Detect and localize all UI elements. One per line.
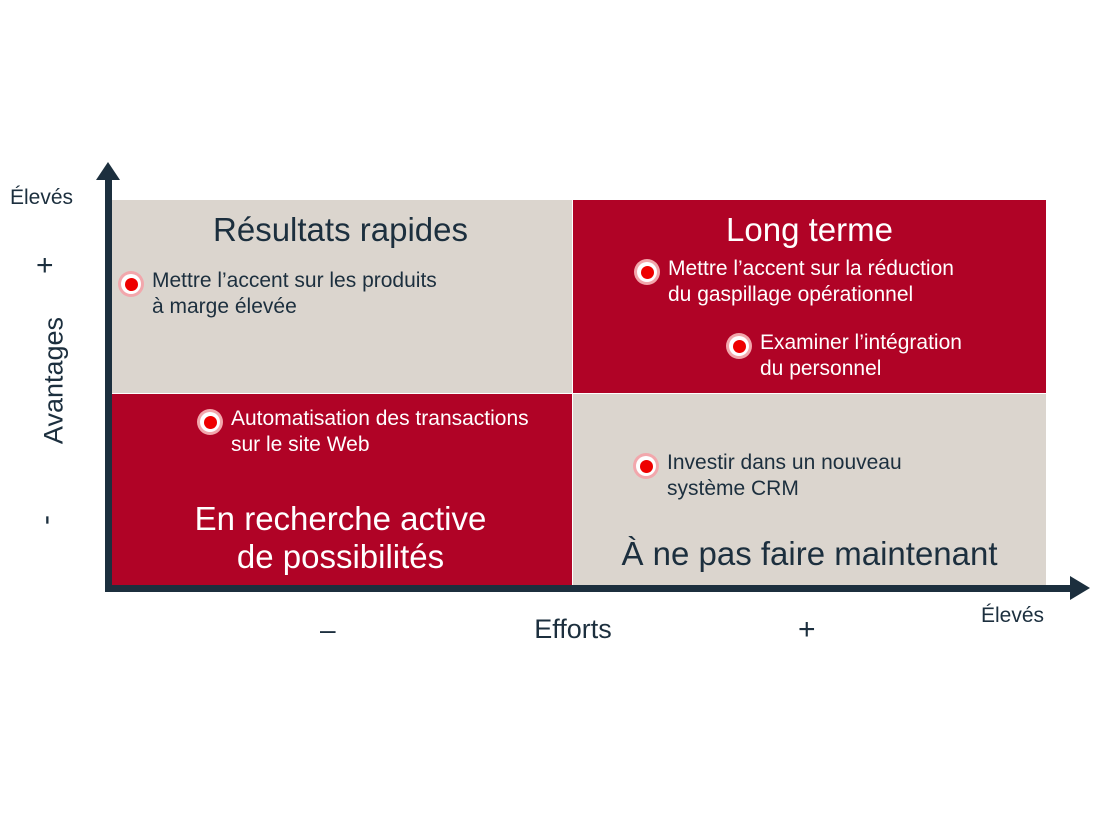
y-axis-arrow-icon [96, 162, 120, 180]
x-axis-line [105, 585, 1075, 592]
target-dot-icon [726, 333, 752, 359]
target-dot-icon [197, 409, 223, 435]
bullet-label-crm-system: Investir dans un nouveau système CRM [667, 450, 902, 502]
x-axis-minus-label: – [320, 614, 336, 646]
bullet-item-web-automation: Automatisation des transactions sur le s… [197, 406, 529, 458]
target-dot-icon [633, 453, 659, 479]
x-axis-high-label: Élevés [981, 604, 1044, 628]
x-axis-title: Efforts [473, 614, 673, 645]
y-axis-high-label: Élevés [10, 186, 73, 210]
quadrant-title-quick-wins: Résultats rapides [109, 211, 572, 249]
bullet-label-high-margin: Mettre l’accent sur les produits à marge… [152, 268, 437, 320]
quadrant-title-not-now: À ne pas faire maintenant [573, 535, 1046, 573]
target-dot-icon [118, 271, 144, 297]
bullet-label-waste-reduction: Mettre l’accent sur la réduction du gasp… [668, 256, 954, 308]
bullet-label-staff-integration: Examiner l’intégration du personnel [760, 330, 962, 382]
bullet-item-high-margin: Mettre l’accent sur les produits à marge… [118, 268, 437, 320]
effort-benefit-matrix: Résultats rapides Long terme En recherch… [0, 0, 1109, 832]
quadrant-title-long-term: Long terme [573, 211, 1046, 249]
bullet-item-staff-integration: Examiner l’intégration du personnel [726, 330, 962, 382]
y-axis-minus-label: - [29, 515, 63, 525]
y-axis-title: Avantages [39, 301, 70, 461]
bullet-label-web-automation: Automatisation des transactions sur le s… [231, 406, 529, 458]
x-axis-plus-label: + [798, 613, 816, 647]
target-dot-icon [634, 259, 660, 285]
bullet-item-waste-reduction: Mettre l’accent sur la réduction du gasp… [634, 256, 954, 308]
y-axis-plus-label: + [36, 249, 54, 283]
x-axis-arrow-icon [1070, 576, 1090, 600]
y-axis-line [105, 175, 112, 589]
bullet-item-crm-system: Investir dans un nouveau système CRM [633, 450, 902, 502]
quadrant-title-active-search: En recherche active de possibilités [109, 500, 572, 576]
